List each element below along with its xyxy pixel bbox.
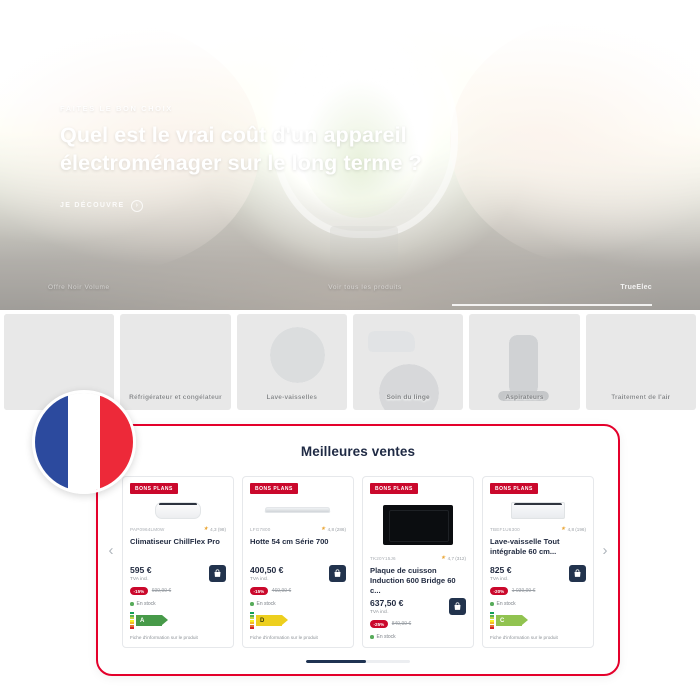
product-price-row: 595 € TVA incl. (130, 565, 226, 582)
product-rating: ★4,8 (286) (321, 527, 346, 533)
arrow-right-circle-icon: › (131, 200, 143, 212)
product-sku: PAP0964LM0W (130, 527, 165, 532)
product-discount-row: -15% 699,99 € (130, 587, 226, 595)
product-sku: TK20Y15J6 (370, 556, 396, 561)
cart-icon (333, 569, 342, 578)
product-image (490, 501, 586, 520)
category-label: Lave-vaisselles (237, 394, 347, 401)
hero-banner[interactable]: FAITES LE BON CHOIX Quel est le vrai coû… (0, 8, 700, 310)
product-meta: LFG7800 ★4,8 (286) (250, 527, 346, 533)
energy-scale-icon (130, 612, 134, 629)
product-name[interactable]: Lave-vaisselle Tout intégrable 60 cm... (490, 537, 586, 557)
product-meta: TK20Y15J6 ★4,7 (312) (370, 556, 466, 562)
category-label: Aspirateurs (469, 394, 579, 401)
stock-label: En stock (137, 601, 156, 607)
product-info-link[interactable]: Fiche d'information sur le produit (250, 635, 346, 640)
discount-badge: -25% (370, 620, 388, 628)
product-card[interactable]: BONS PLANS TK20Y15J6 ★4,7 (312) Plaque d… (362, 476, 474, 648)
stock-status: En stock (250, 601, 346, 607)
energy-label[interactable]: D (250, 612, 346, 629)
discount-badge: -15% (130, 587, 148, 595)
product-carousel[interactable]: BONS PLANS PAP0964LM0W ★4,3 (98) Climati… (122, 476, 594, 648)
hero-footer-brand: TrueElec (620, 284, 652, 291)
product-name[interactable]: Climatiseur ChillFlex Pro (130, 537, 226, 557)
product-rating: ★4,3 (98) (203, 527, 226, 533)
stock-status: En stock (130, 601, 226, 607)
discount-badge: -20% (490, 587, 508, 595)
hero-cta-label: JE DÉCOUVRE (60, 202, 124, 209)
product-vat-label: TVA incl. (490, 577, 512, 582)
category-tile-air[interactable]: Traitement de l'air (586, 314, 696, 410)
product-rating: ★4,8 (196) (561, 527, 586, 533)
chevron-right-icon[interactable]: › (598, 538, 612, 562)
energy-scale-icon (250, 612, 254, 629)
add-to-cart-button[interactable] (449, 598, 466, 615)
product-info-link[interactable]: Fiche d'information sur le produit (490, 635, 586, 640)
product-discount-row: -25% 849,99 € (370, 620, 466, 628)
product-price-row: 400,50 € TVA incl. (250, 565, 346, 582)
cart-icon (573, 569, 582, 578)
category-tile-dishwasher[interactable]: Lave-vaisselles (237, 314, 347, 410)
product-vat-label: TVA incl. (130, 577, 152, 582)
product-sku: LFG7800 (250, 527, 271, 532)
product-image (250, 501, 346, 520)
hero-title: Quel est le vrai coût d'un appareil élec… (60, 122, 490, 178)
product-price-row: 825 € TVA incl. (490, 565, 586, 582)
product-meta: PAP0964LM0W ★4,3 (98) (130, 527, 226, 533)
product-name[interactable]: Plaque de cuisson Induction 600 Bridge 6… (370, 566, 466, 590)
stock-label: En stock (377, 634, 396, 640)
energy-label[interactable]: A (130, 612, 226, 629)
hero-eyebrow: FAITES LE BON CHOIX (60, 104, 490, 113)
chevron-left-icon[interactable]: ‹ (104, 538, 118, 562)
page-root: FAITES LE BON CHOIX Quel est le vrai coû… (0, 0, 700, 700)
product-price-row: 637,50 € TVA incl. (370, 598, 466, 615)
product-image (370, 501, 466, 549)
hero-cta-button[interactable]: JE DÉCOUVRE › (60, 200, 143, 212)
product-price: 400,50 € (250, 565, 283, 575)
energy-label[interactable]: C (490, 612, 586, 629)
product-vat-label: TVA incl. (250, 577, 283, 582)
hero-footer: Offre Noir Volume Voir tous les produits… (0, 274, 700, 300)
category-label: Réfrigérateur et congélateur (120, 394, 230, 401)
product-card[interactable]: BONS PLANS TBEF1U6300 ★4,8 (196) Lave-va… (482, 476, 594, 648)
status-dot-icon (250, 602, 254, 606)
product-discount-row: -15% 469,99 € (250, 587, 346, 595)
add-to-cart-button[interactable] (329, 565, 346, 582)
deal-badge: BONS PLANS (490, 483, 538, 494)
cart-icon (453, 602, 462, 611)
best-sellers-title: Meilleures ventes (98, 426, 618, 459)
carousel-scrollbar-thumb[interactable] (306, 660, 366, 663)
old-price: 469,99 € (272, 588, 291, 594)
product-price: 637,50 € (370, 598, 403, 608)
carousel-scrollbar[interactable] (306, 660, 410, 663)
energy-class-badge: A (136, 615, 162, 626)
old-price: 1 039,99 € (512, 588, 536, 594)
product-image (130, 501, 226, 520)
energy-class-badge: C (496, 615, 522, 626)
hero-footer-middle: Voir tous les produits (328, 284, 402, 291)
category-tile-fridge[interactable]: Réfrigérateur et congélateur (120, 314, 230, 410)
status-dot-icon (490, 602, 494, 606)
hero-content: FAITES LE BON CHOIX Quel est le vrai coû… (60, 104, 490, 212)
deal-badge: BONS PLANS (370, 483, 418, 494)
old-price: 849,99 € (392, 621, 411, 627)
status-dot-icon (370, 635, 374, 639)
product-sku: TBEF1U6300 (490, 527, 520, 532)
stock-label: En stock (497, 601, 516, 607)
star-icon: ★ (203, 527, 208, 533)
star-icon: ★ (561, 527, 566, 533)
discount-badge: -15% (250, 587, 268, 595)
product-name[interactable]: Hotte 54 cm Série 700 (250, 537, 346, 557)
deal-badge: BONS PLANS (250, 483, 298, 494)
product-discount-row: -20% 1 039,99 € (490, 587, 586, 595)
energy-scale-icon (490, 612, 494, 629)
stock-status: En stock (370, 634, 466, 640)
stock-status: En stock (490, 601, 586, 607)
product-info-link[interactable]: Fiche d'information sur le produit (130, 635, 226, 640)
category-label: Soin du linge (353, 394, 463, 401)
cart-icon (213, 569, 222, 578)
category-label: Traitement de l'air (586, 394, 696, 401)
old-price: 699,99 € (152, 588, 171, 594)
product-price: 595 € (130, 565, 152, 575)
hero-footer-left: Offre Noir Volume (48, 284, 110, 291)
add-to-cart-button[interactable] (569, 565, 586, 582)
deal-badge: BONS PLANS (130, 483, 178, 494)
status-dot-icon (130, 602, 134, 606)
product-vat-label: TVA incl. (370, 610, 403, 615)
product-card[interactable]: BONS PLANS LFG7800 ★4,8 (286) Hotte 54 c… (242, 476, 354, 648)
hero-slider-progress[interactable] (452, 304, 652, 306)
product-meta: TBEF1U6300 ★4,8 (196) (490, 527, 586, 533)
add-to-cart-button[interactable] (209, 565, 226, 582)
french-flag-badge (32, 390, 136, 494)
product-price: 825 € (490, 565, 512, 575)
category-tile-vacuum[interactable]: Aspirateurs (469, 314, 579, 410)
category-tile-laundry[interactable]: Soin du linge (353, 314, 463, 410)
best-sellers-panel: Meilleures ventes ‹ › BONS PLANS PAP0964… (96, 424, 620, 676)
product-card[interactable]: BONS PLANS PAP0964LM0W ★4,3 (98) Climati… (122, 476, 234, 648)
star-icon: ★ (441, 556, 446, 562)
star-icon: ★ (321, 527, 326, 533)
flag-stripe-white (68, 393, 101, 491)
product-rating: ★4,7 (312) (441, 556, 466, 562)
energy-class-badge: D (256, 615, 282, 626)
stock-label: En stock (257, 601, 276, 607)
